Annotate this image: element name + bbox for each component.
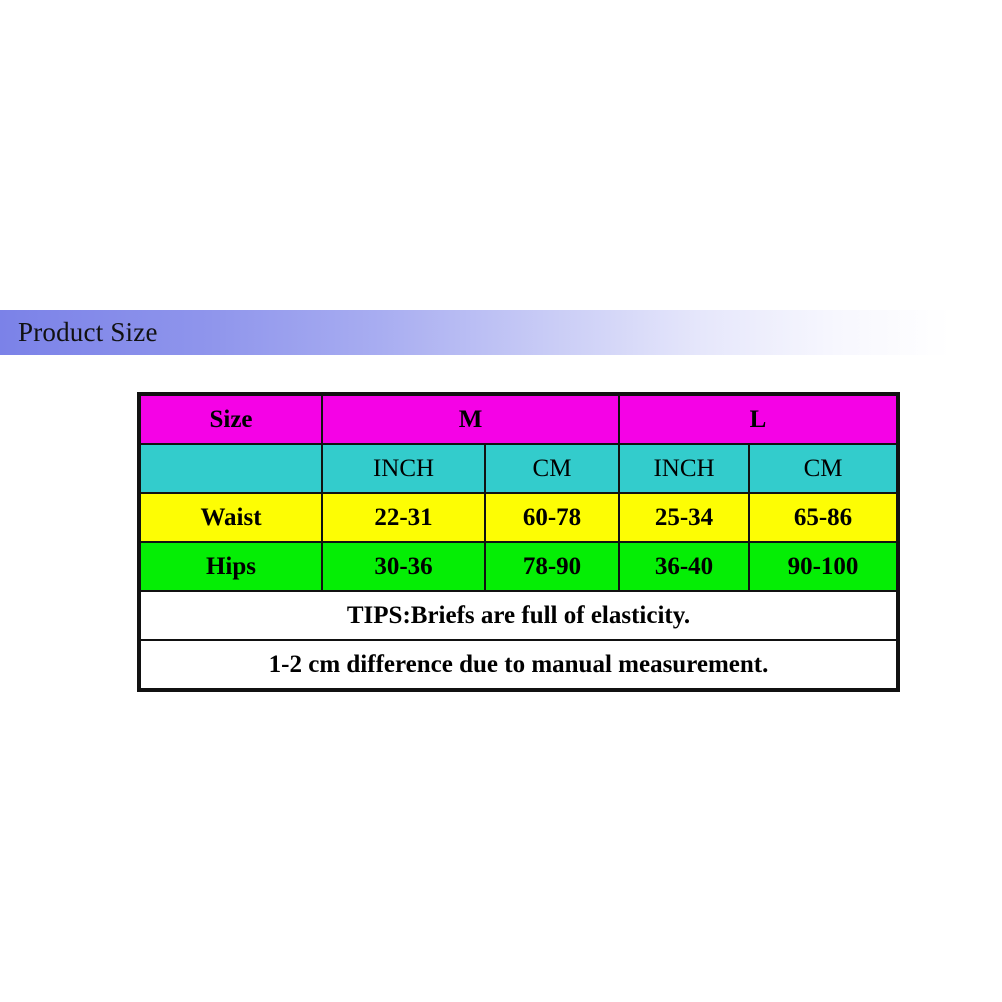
row-label-waist: Waist (139, 493, 322, 542)
hips-l-cm: 90-100 (749, 542, 898, 591)
waist-l-cm: 65-86 (749, 493, 898, 542)
size-chart-table: Size M L INCH CM INCH CM Waist 22-31 60-… (137, 392, 900, 692)
hips-l-inch: 36-40 (619, 542, 749, 591)
unit-cell-m-cm: CM (485, 444, 619, 493)
header-cell-size-m: M (322, 394, 619, 444)
waist-m-cm: 60-78 (485, 493, 619, 542)
hips-m-inch: 30-36 (322, 542, 485, 591)
table-row-tip-elasticity: TIPS:Briefs are full of elasticity. (139, 591, 898, 640)
size-chart-page: Product Size Size M L INCH CM (0, 0, 1002, 1002)
waist-l-inch: 25-34 (619, 493, 749, 542)
product-size-banner: Product Size (0, 310, 950, 355)
unit-cell-m-inch: INCH (322, 444, 485, 493)
table-row-waist: Waist 22-31 60-78 25-34 65-86 (139, 493, 898, 542)
tip-text-elasticity: TIPS:Briefs are full of elasticity. (139, 591, 898, 640)
row-label-hips: Hips (139, 542, 322, 591)
waist-m-inch: 22-31 (322, 493, 485, 542)
unit-cell-l-cm: CM (749, 444, 898, 493)
unit-cell-l-inch: INCH (619, 444, 749, 493)
table-row-hips: Hips 30-36 78-90 36-40 90-100 (139, 542, 898, 591)
hips-m-cm: 78-90 (485, 542, 619, 591)
tip-text-measurement: 1-2 cm difference due to manual measurem… (139, 640, 898, 690)
page-title: Product Size (18, 316, 158, 347)
unit-cell-blank (139, 444, 322, 493)
header-cell-size-l: L (619, 394, 898, 444)
header-cell-size: Size (139, 394, 322, 444)
table-row-units: INCH CM INCH CM (139, 444, 898, 493)
table-row-sizes: Size M L (139, 394, 898, 444)
size-table-container: Size M L INCH CM INCH CM Waist 22-31 60-… (137, 392, 896, 692)
table-row-tip-measurement: 1-2 cm difference due to manual measurem… (139, 640, 898, 690)
